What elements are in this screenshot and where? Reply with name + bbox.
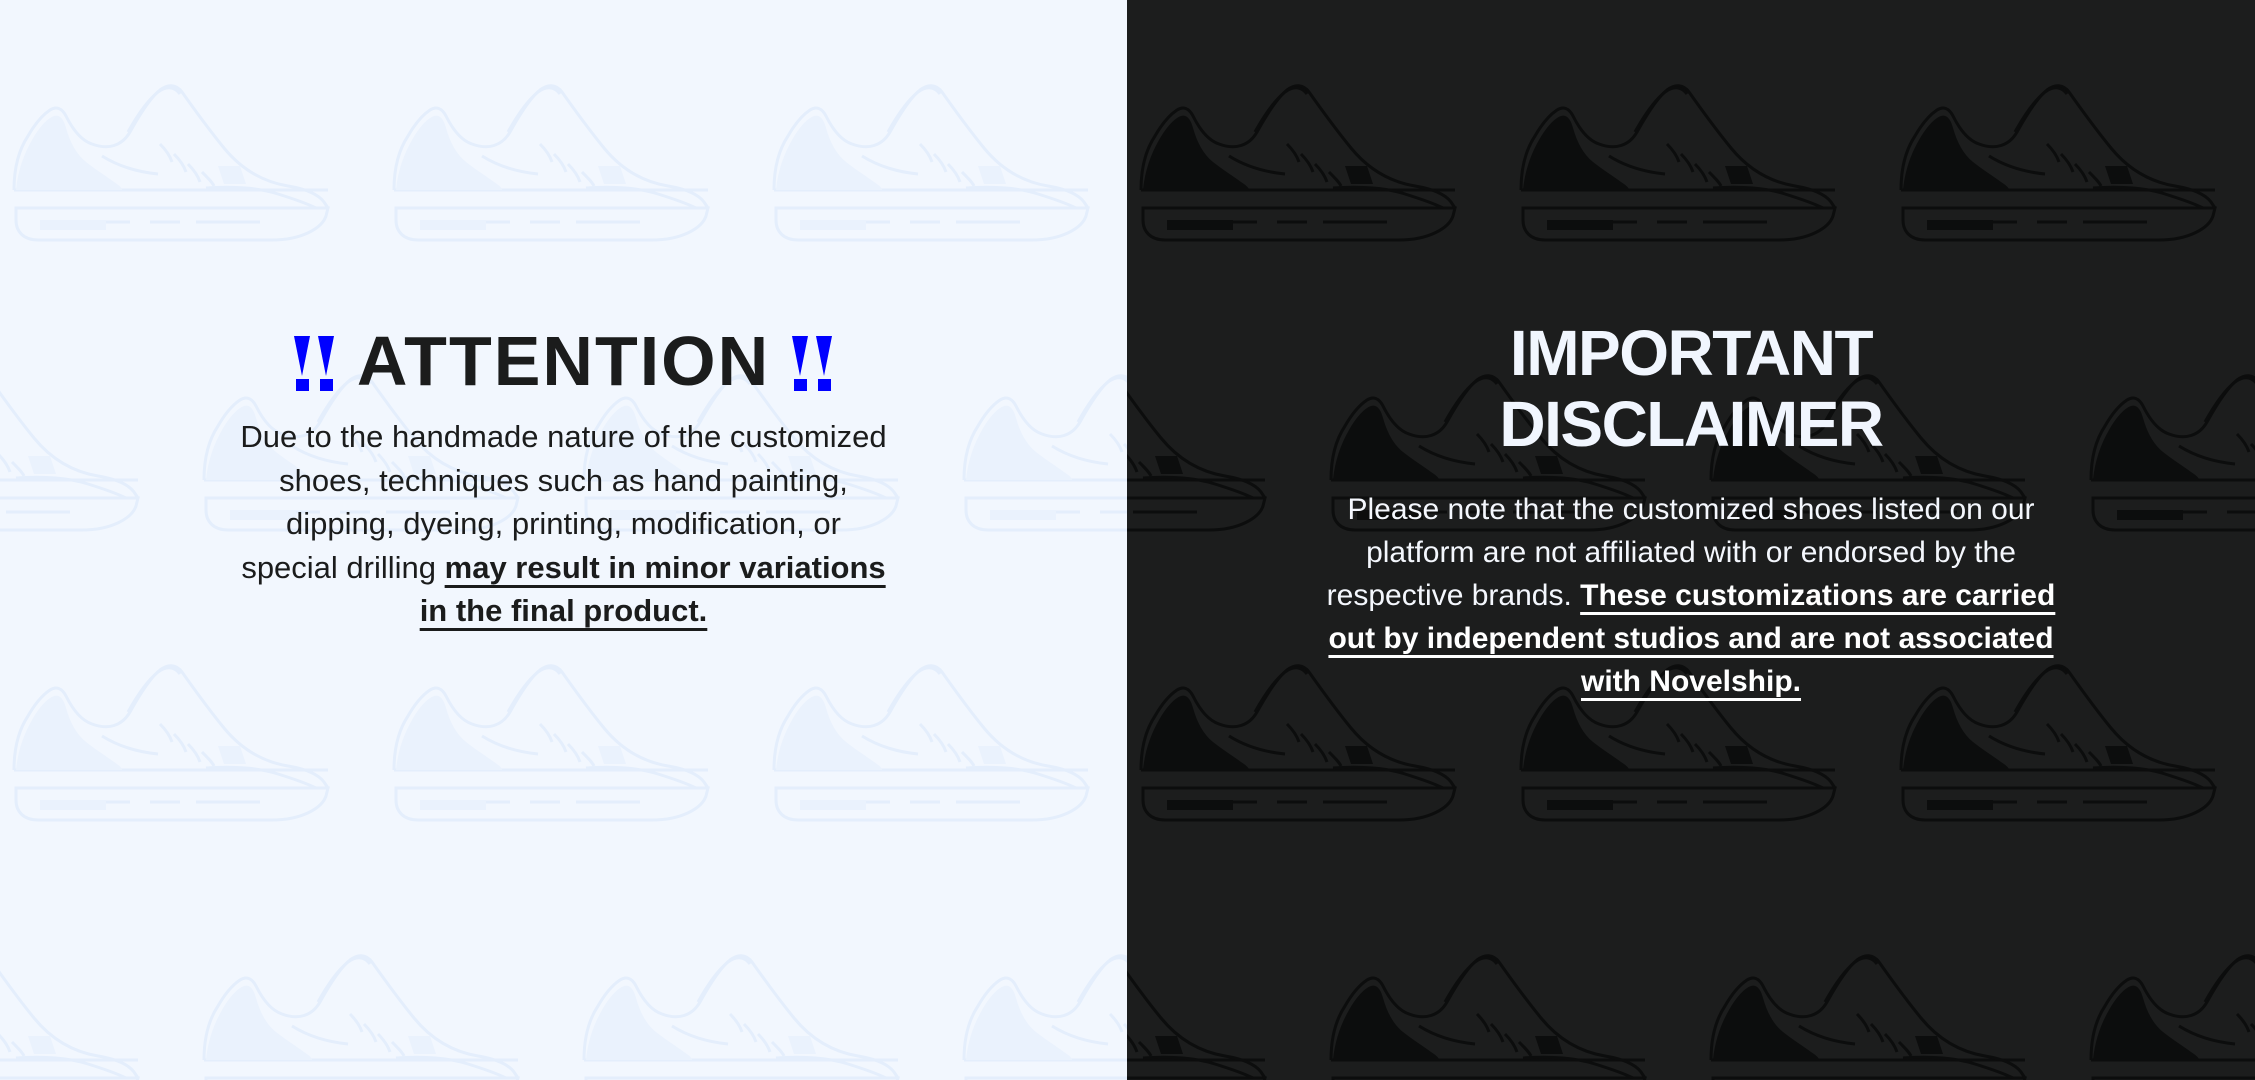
disclaimer-body: Please note that the customized shoes li… (1127, 488, 2255, 703)
attention-panel: ATTENTION Due to the handmade nature of … (0, 0, 1127, 1080)
double-exclamation-mark-icon-left (294, 336, 335, 391)
attention-heading-text: ATTENTION (357, 326, 770, 396)
disclaimer-heading-line-2: DISCLAIMER (1499, 388, 1882, 460)
disclaimer-panel: IMPORTANT DISCLAIMER Please note that th… (1127, 0, 2255, 1080)
attention-body-emphasis: may result in minor variations in the fi… (420, 550, 886, 629)
attention-content: ATTENTION Due to the handmade nature of … (0, 326, 1127, 633)
attention-body: Due to the handmade nature of the custom… (0, 415, 1127, 633)
disclaimer-heading: IMPORTANT DISCLAIMER (1127, 318, 2255, 460)
double-exclamation-mark-icon-right (792, 336, 833, 391)
attention-heading: ATTENTION (0, 326, 1127, 396)
disclaimer-heading-line-1: IMPORTANT (1510, 317, 1872, 389)
disclaimer-content: IMPORTANT DISCLAIMER Please note that th… (1127, 318, 2255, 703)
disclaimer-banner: ATTENTION Due to the handmade nature of … (0, 0, 2255, 1080)
